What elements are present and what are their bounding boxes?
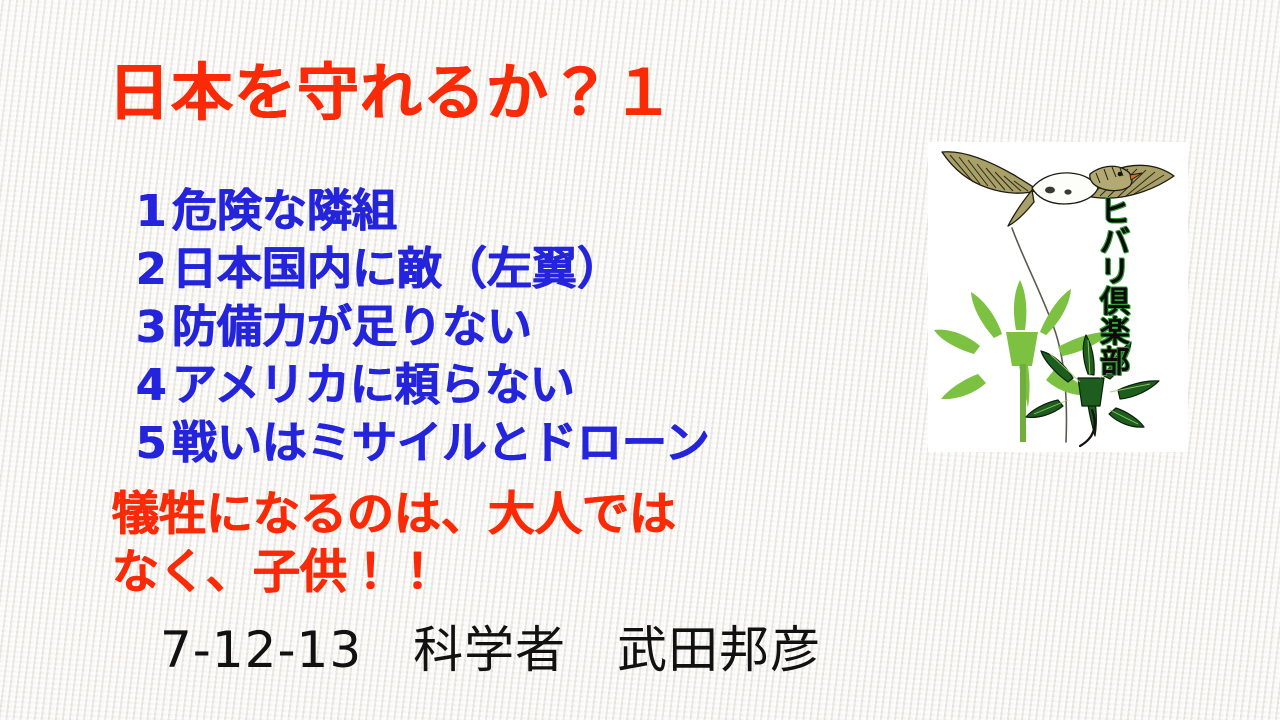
logo-char-3: リ (1088, 258, 1142, 288)
logo-char-4: 倶 (1088, 288, 1142, 318)
list-item-label: 日本国内に敵（左翼） (172, 240, 622, 298)
list-item-number: 4 (136, 357, 172, 415)
presentation-slide: 日本を守れるか？１ 1 危険な隣組 2 日本国内に敵（左翼） 3 防備力が足りな… (0, 0, 1280, 720)
emphasis-line-1: 犠牲になるのは、大人では (112, 486, 1012, 544)
hibari-club-logo: ヒ バ リ 倶 楽 部 (928, 142, 1188, 452)
list-item-number: 1 (136, 183, 172, 241)
logo-vertical-text: ヒ バ リ 倶 楽 部 (1088, 198, 1142, 378)
numbered-bullet-list: 1 危険な隣組 2 日本国内に敵（左翼） 3 防備力が足りない 4 アメリカに頼… (136, 182, 1016, 472)
list-item-number: 3 (136, 299, 172, 357)
skylark-and-hemp-leaf-illustration (928, 142, 1188, 452)
logo-char-1: ヒ (1088, 198, 1142, 228)
list-item-label: 危険な隣組 (172, 182, 397, 240)
logo-char-5: 楽 (1088, 318, 1142, 348)
list-item-label: 防備力が足りない (172, 298, 532, 356)
list-item-number: 5 (136, 415, 172, 473)
list-item-label: アメリカに頼らない (172, 356, 575, 414)
list-item: 1 危険な隣組 (136, 182, 1016, 240)
list-item: 4 アメリカに頼らない (136, 356, 1016, 414)
logo-char-2: バ (1088, 228, 1142, 258)
logo-char-6: 部 (1088, 348, 1142, 378)
emphasis-line-2: なく、子供！！ (112, 544, 1012, 602)
emphasis-text-block: 犠牲になるのは、大人では なく、子供！！ (112, 486, 1012, 602)
list-item: 3 防備力が足りない (136, 298, 1016, 356)
list-item-label: 戦いはミサイルとドローン (172, 414, 710, 472)
byline: 7-12-13 科学者 武田邦彦 (160, 618, 821, 682)
list-item: 2 日本国内に敵（左翼） (136, 240, 1016, 298)
list-item: 5 戦いはミサイルとドローン (136, 414, 1016, 472)
list-item-number: 2 (136, 241, 172, 299)
slide-title: 日本を守れるか？１ (108, 56, 675, 130)
